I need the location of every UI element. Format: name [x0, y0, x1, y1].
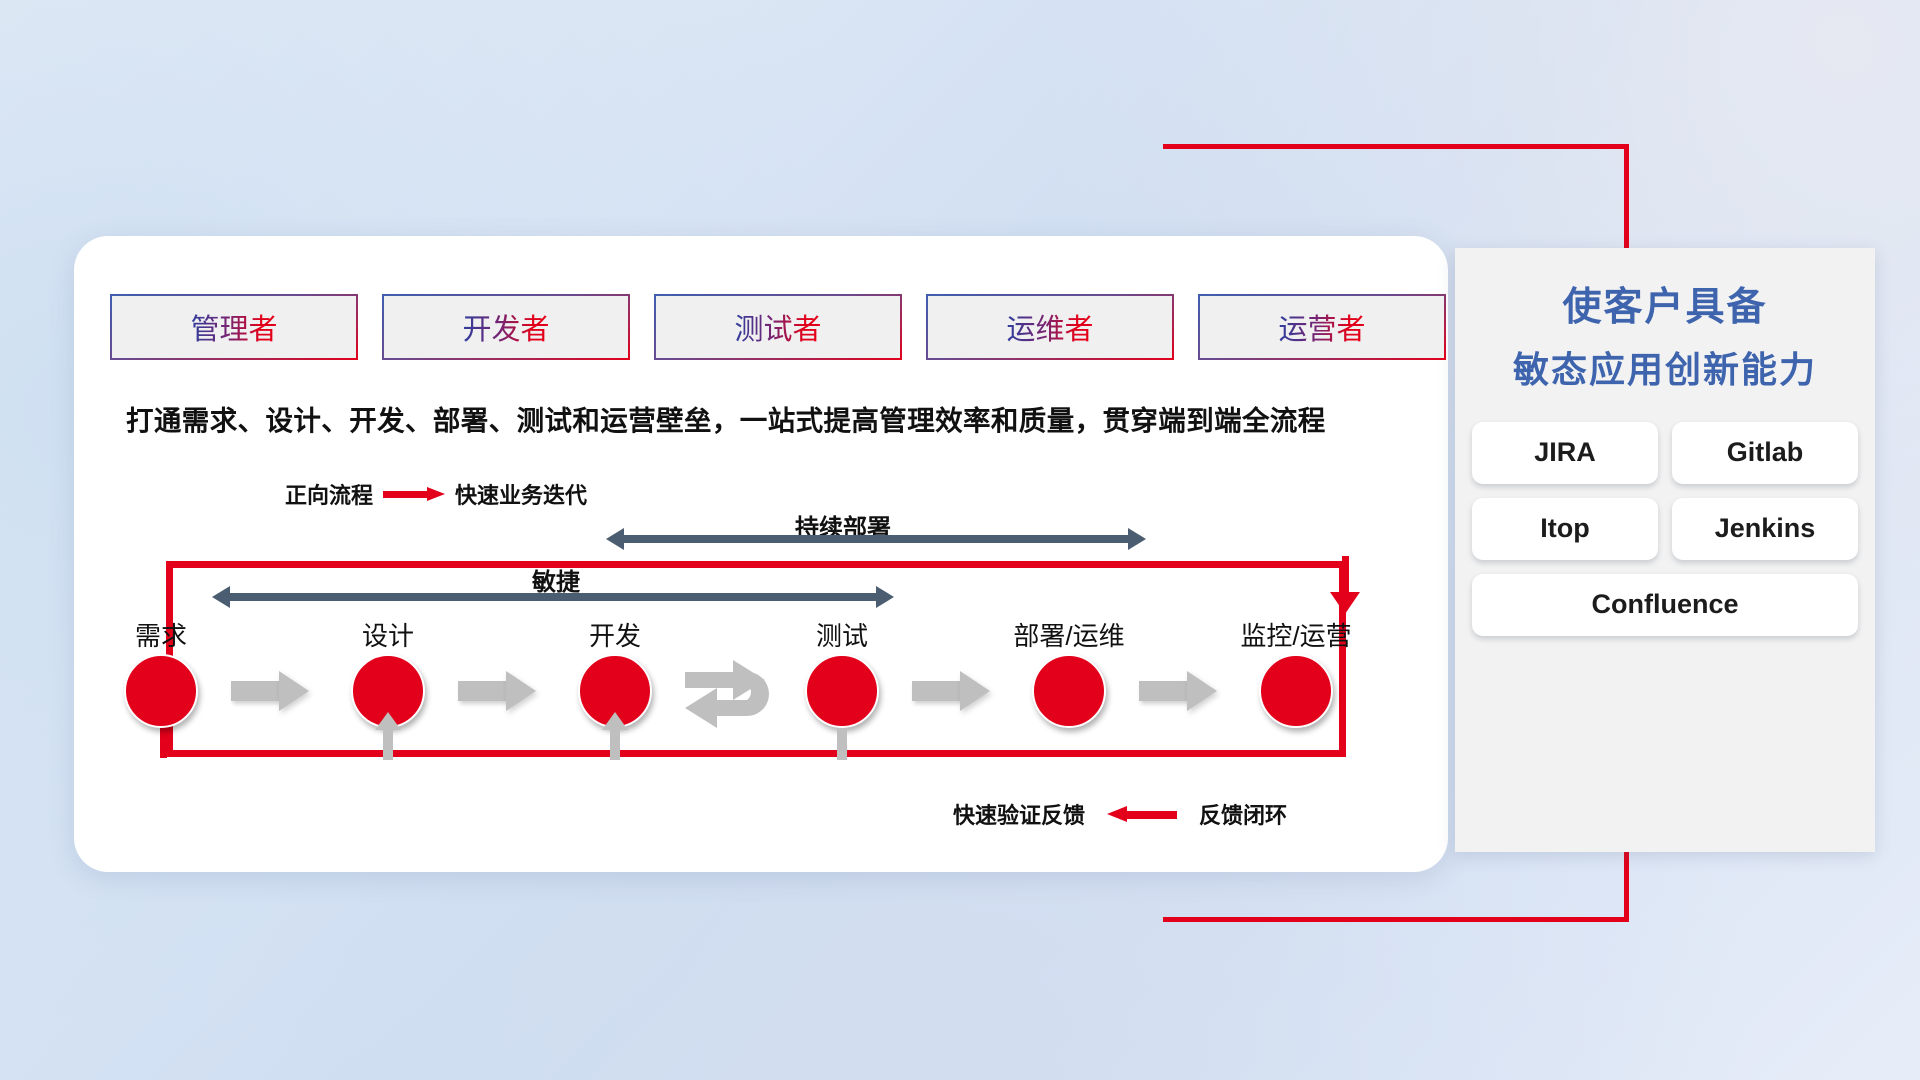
role-box-manager-label: 管理者 [190, 306, 277, 348]
arrow-head-right-icon [1128, 528, 1146, 550]
side-panel-headline: 使客户具备 敏态应用创新能力 [1455, 284, 1875, 392]
role-box-developer-label: 开发者 [462, 306, 549, 348]
process-node-icon-monitor-operations[interactable] [1259, 654, 1333, 728]
description-text: 打通需求、设计、开发、部署、测试和运营壁垒，一站式提高管理效率和质量，贯穿端到端… [126, 398, 1326, 438]
side-panel-headline-line1: 使客户具备 [1455, 284, 1875, 333]
pipeline: 需求 设计 开发 测试 部署/运维 监控/运营 [118, 614, 1408, 734]
node-label-monitor-operations: 监控/运营 [1240, 616, 1351, 653]
tool-chip-gitlab[interactable]: Gitlab [1672, 422, 1858, 484]
tool-chip-jira[interactable]: JIRA [1472, 422, 1658, 484]
legend-feedback-right-label: 反馈闭环 [1199, 798, 1287, 830]
role-box-manager[interactable]: 管理者 [110, 294, 358, 360]
flow-arrow-grey-icon-3 [912, 671, 990, 711]
tool-chip-jenkins[interactable]: Jenkins [1672, 498, 1858, 560]
tool-chip-confluence[interactable]: Confluence [1472, 574, 1858, 636]
legend-forward-right-label: 快速业务迭代 [455, 478, 587, 510]
stem-test [837, 728, 847, 760]
tool-chip-itop[interactable]: Itop [1472, 498, 1658, 560]
stem-head-design [375, 712, 401, 730]
arrow-left-red-icon [1107, 806, 1177, 822]
double-headed-arrow-icon-continuous-deploy [606, 528, 1146, 550]
role-box-ops[interactable]: 运维者 [926, 294, 1174, 360]
stem-design [383, 728, 393, 760]
legend-forward-flow: 正向流程 快速业务迭代 [285, 478, 587, 510]
arrow-bar [622, 535, 1130, 543]
process-node-icon-test[interactable] [805, 654, 879, 728]
side-panel: 使客户具备 敏态应用创新能力 JIRA Gitlab Itop Jenkins … [1455, 248, 1875, 852]
process-node-icon-requirements[interactable] [124, 654, 198, 728]
role-box-operations[interactable]: 运营者 [1198, 294, 1446, 360]
node-label-deploy-ops: 部署/运维 [1013, 616, 1124, 653]
legend-feedback-left-label: 快速验证反馈 [953, 798, 1085, 830]
role-box-tester-label: 测试者 [734, 306, 821, 348]
arrow-head-right-icon [876, 586, 894, 608]
legend-forward-left-label: 正向流程 [285, 478, 373, 510]
node-label-test: 测试 [816, 616, 868, 653]
side-panel-headline-line2: 敏态应用创新能力 [1455, 347, 1875, 392]
double-headed-arrow-icon-agile [212, 586, 894, 608]
node-label-requirements: 需求 [135, 616, 187, 653]
role-box-operations-label: 运营者 [1278, 306, 1365, 348]
process-node-icon-deploy-ops[interactable] [1032, 654, 1106, 728]
role-box-tester[interactable]: 测试者 [654, 294, 902, 360]
flow-arrow-grey-icon-2 [458, 671, 536, 711]
tool-chip-grid: JIRA Gitlab Itop Jenkins Confluence [1471, 422, 1859, 636]
stem-develop [610, 728, 620, 760]
node-label-design: 设计 [362, 616, 414, 653]
flow-arrow-grey-icon-1 [231, 671, 309, 711]
flow-arrow-grey-icon-4 [1139, 671, 1217, 711]
arrow-bar [228, 593, 878, 601]
stem-head-develop [602, 712, 628, 730]
node-label-develop: 开发 [589, 616, 641, 653]
role-box-ops-label: 运维者 [1006, 306, 1093, 348]
legend-feedback-loop: 快速验证反馈 反馈闭环 [953, 798, 1287, 830]
arrow-right-red-icon [383, 487, 445, 501]
role-box-developer[interactable]: 开发者 [382, 294, 630, 360]
role-boxes-row: 管理者 开发者 测试者 运维者 运营者 [110, 294, 1446, 360]
loop-back-icon [681, 658, 791, 736]
